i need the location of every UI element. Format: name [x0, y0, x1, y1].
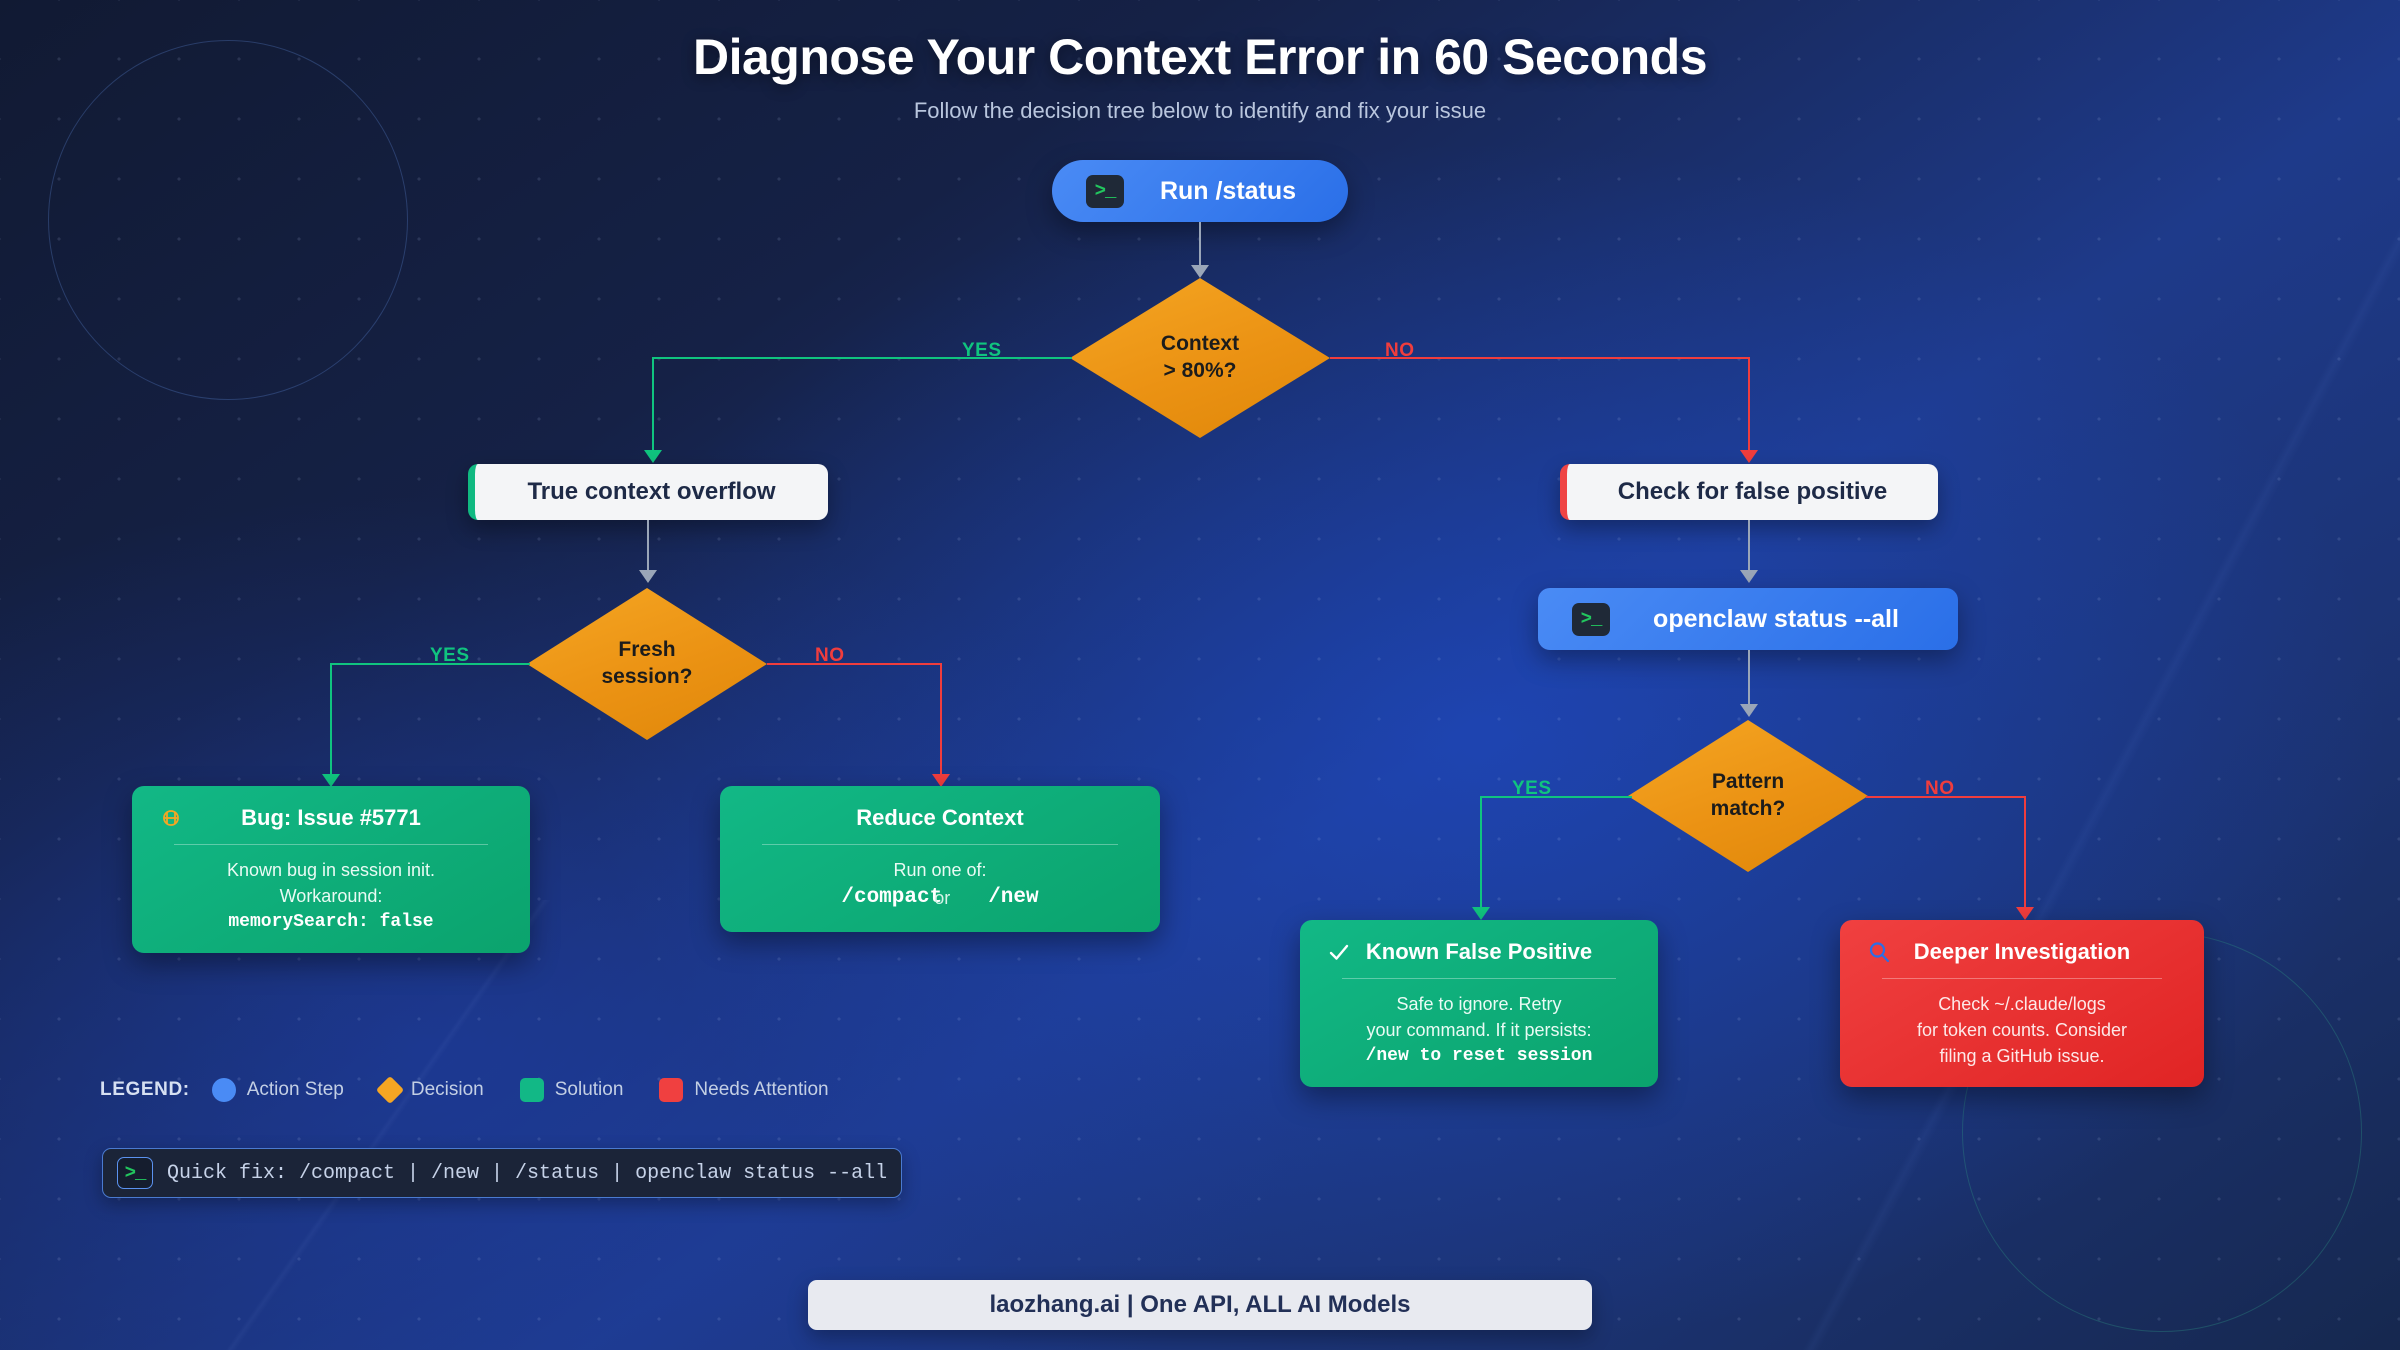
- legend-swatch-attention-icon: [659, 1078, 683, 1102]
- node-known-false-positive[interactable]: Known False Positive Safe to ignore. Ret…: [1300, 920, 1658, 1087]
- decision-fresh-session[interactable]: Fresh session?: [527, 588, 767, 740]
- known-false-positive-header: Known False Positive: [1318, 936, 1640, 968]
- bug-issue-header: Bug: Issue #5771: [150, 802, 512, 834]
- decision-fresh-session-label: Fresh session?: [527, 588, 767, 740]
- page-title: Diagnose Your Context Error in 60 Second…: [0, 28, 2400, 86]
- legend-label-solution: Solution: [555, 1079, 624, 1101]
- legend-item-needs-attention: Needs Attention: [659, 1078, 828, 1102]
- decision-context-over-80[interactable]: Context > 80%?: [1070, 278, 1330, 438]
- deeper-investigation-line2: for token counts. Consider: [1858, 1017, 2186, 1043]
- known-false-positive-line1: Safe to ignore. Retry: [1318, 991, 1640, 1017]
- openclaw-status-pill[interactable]: >_ openclaw status --all: [1538, 588, 1958, 650]
- terminal-icon: >_: [1086, 175, 1124, 208]
- footer-banner[interactable]: laozhang.ai | One API, ALL AI Models: [808, 1280, 1592, 1330]
- check-false-positive-label: Check for false positive: [1618, 478, 1887, 506]
- card-divider: [1882, 978, 2162, 979]
- deeper-investigation-line1: Check ~/.claude/logs: [1858, 991, 2186, 1017]
- search-icon: [1866, 939, 1892, 965]
- run-status-pill[interactable]: >_ Run /status: [1052, 160, 1348, 222]
- check-icon: [1326, 939, 1352, 965]
- legend-label-action-step: Action Step: [247, 1079, 344, 1101]
- known-false-positive-card[interactable]: Known False Positive Safe to ignore. Ret…: [1300, 920, 1658, 1087]
- page-subtitle: Follow the decision tree below to identi…: [0, 98, 2400, 124]
- legend-label-decision: Decision: [411, 1079, 484, 1101]
- quick-fix-command-bar[interactable]: >_ Quick fix: /compact | /new | /status …: [102, 1148, 902, 1198]
- terminal-icon: >_: [117, 1157, 153, 1189]
- bug-issue-code: memorySearch: false: [150, 909, 512, 935]
- reduce-context-body: Run one of: /compact or /new: [738, 857, 1142, 914]
- reduce-context-header: Reduce Context: [738, 802, 1142, 834]
- known-false-positive-code: /new to reset session: [1318, 1043, 1640, 1069]
- openclaw-status-label: openclaw status --all: [1628, 605, 1924, 634]
- known-false-positive-body: Safe to ignore. Retry your command. If i…: [1318, 991, 1640, 1069]
- node-openclaw-status[interactable]: >_ openclaw status --all: [1538, 588, 1958, 650]
- legend-item-action-step: Action Step: [212, 1078, 344, 1102]
- legend-swatch-circle-icon: [212, 1078, 236, 1102]
- check-false-positive-box[interactable]: Check for false positive: [1560, 464, 1938, 520]
- reduce-context-title: Reduce Context: [856, 805, 1023, 831]
- known-false-positive-line2: your command. If it persists:: [1318, 1017, 1640, 1043]
- diagram-canvas: Diagnose Your Context Error in 60 Second…: [0, 0, 2400, 1350]
- reduce-context-or: or: [932, 885, 952, 911]
- bug-issue-title: Bug: Issue #5771: [241, 805, 421, 831]
- bug-issue-body: Known bug in session init. Workaround: m…: [150, 857, 512, 935]
- node-true-context-overflow[interactable]: True context overflow: [468, 464, 828, 520]
- decorative-circle-top-left: [48, 40, 408, 400]
- bug-issue-card[interactable]: Bug: Issue #5771 Known bug in session in…: [132, 786, 530, 953]
- legend-item-decision: Decision: [380, 1079, 484, 1101]
- node-reduce-context[interactable]: Reduce Context Run one of: /compact or /…: [720, 786, 1160, 932]
- card-divider: [1342, 978, 1616, 979]
- legend-title: LEGEND:: [100, 1079, 190, 1101]
- legend-item-solution: Solution: [520, 1078, 624, 1102]
- terminal-icon: >_: [1572, 603, 1610, 636]
- true-context-overflow-box[interactable]: True context overflow: [468, 464, 828, 520]
- node-bug-issue[interactable]: Bug: Issue #5771 Known bug in session in…: [132, 786, 530, 953]
- decision-context-line2: > 80%?: [1164, 358, 1237, 385]
- node-run-status[interactable]: >_ Run /status: [1052, 160, 1348, 222]
- legend: LEGEND: Action Step Decision Solution Ne…: [100, 1078, 847, 1102]
- known-false-positive-title: Known False Positive: [1366, 939, 1592, 965]
- deeper-investigation-body: Check ~/.claude/logs for token counts. C…: [1858, 991, 2186, 1069]
- decision-fresh-session-line1: Fresh: [618, 637, 675, 664]
- footer-text: laozhang.ai | One API, ALL AI Models: [990, 1291, 1411, 1319]
- bug-icon: [158, 805, 184, 831]
- bug-issue-line1: Known bug in session init.: [150, 857, 512, 883]
- decision-pattern-match-label: Pattern match?: [1628, 720, 1868, 872]
- decision-context-label: Context > 80%?: [1070, 278, 1330, 438]
- legend-label-needs-attention: Needs Attention: [694, 1079, 828, 1101]
- deeper-investigation-header: Deeper Investigation: [1858, 936, 2186, 968]
- node-check-false-positive[interactable]: Check for false positive: [1560, 464, 1938, 520]
- reduce-context-cmd1: /compact: [841, 883, 942, 913]
- decision-context-line1: Context: [1161, 331, 1239, 358]
- run-status-label: Run /status: [1142, 177, 1314, 206]
- reduce-context-commands: /compact or /new: [738, 883, 1142, 913]
- reduce-context-line1: Run one of:: [738, 857, 1142, 883]
- deeper-investigation-line3: filing a GitHub issue.: [1858, 1043, 2186, 1069]
- decision-fresh-session-line2: session?: [601, 664, 692, 691]
- reduce-context-card[interactable]: Reduce Context Run one of: /compact or /…: [720, 786, 1160, 932]
- legend-swatch-diamond-icon: [376, 1076, 404, 1104]
- decision-pattern-match-line2: match?: [1711, 796, 1786, 823]
- deeper-investigation-card[interactable]: Deeper Investigation Check ~/.claude/log…: [1840, 920, 2204, 1087]
- deeper-investigation-title: Deeper Investigation: [1914, 939, 2130, 965]
- reduce-context-cmd2: /new: [988, 883, 1038, 913]
- decision-pattern-match-line1: Pattern: [1712, 769, 1784, 796]
- true-context-overflow-label: True context overflow: [527, 478, 775, 506]
- card-divider: [762, 844, 1118, 845]
- quick-fix-text: Quick fix: /compact | /new | /status | o…: [167, 1162, 887, 1185]
- legend-swatch-solution-icon: [520, 1078, 544, 1102]
- card-divider: [174, 844, 488, 845]
- bug-issue-line2: Workaround:: [150, 883, 512, 909]
- decision-pattern-match[interactable]: Pattern match?: [1628, 720, 1868, 872]
- node-deeper-investigation[interactable]: Deeper Investigation Check ~/.claude/log…: [1840, 920, 2204, 1087]
